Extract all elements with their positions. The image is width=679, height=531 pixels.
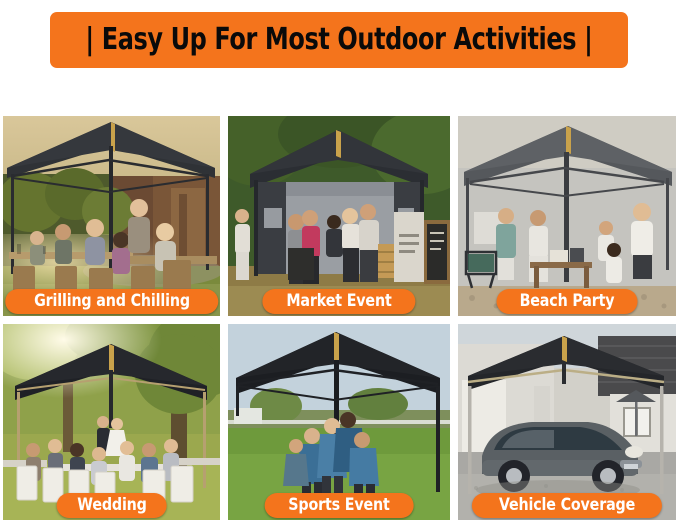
panel-beach-party: Beach Party [458,116,676,316]
scene-market-event [228,116,450,316]
panel-sports-event: Sports Event [228,324,450,520]
marketing-image: | Easy Up For Most Outdoor Activities | [0,0,679,531]
panel-label-pill: Sports Event [265,493,414,518]
panel-market-event: Market Event [228,116,450,316]
panel-wedding: Wedding [3,324,220,520]
panel-grilling-and-chilling: Grilling and Chilling [3,116,220,316]
panel-label-text: Sports Event [288,497,389,514]
scene-sports-event [228,324,450,520]
panel-label-text: Market Event [286,293,391,310]
scene-grilling-and-chilling [3,116,220,316]
panel-label-text: Beach Party [520,293,615,310]
panel-label-text: Grilling and Chilling [34,293,190,310]
panel-label-pill: Vehicle Coverage [472,493,662,518]
panel-grid: Grilling and Chilling [3,116,676,528]
panel-vehicle-coverage: Vehicle Coverage [458,324,676,520]
scene-wedding [3,324,220,520]
panel-label-text: Vehicle Coverage [499,497,635,514]
panel-label-pill: Beach Party [497,289,638,314]
panel-label-text: Wedding [77,497,146,514]
header-banner: | Easy Up For Most Outdoor Activities | [50,12,628,68]
panel-label-pill: Wedding [56,493,167,518]
page-title: | Easy Up For Most Outdoor Activities | [85,25,592,55]
scene-vehicle-coverage [458,324,676,520]
panel-label-pill: Market Event [262,289,415,314]
panel-label-pill: Grilling and Chilling [5,289,218,314]
scene-beach-party [458,116,676,316]
